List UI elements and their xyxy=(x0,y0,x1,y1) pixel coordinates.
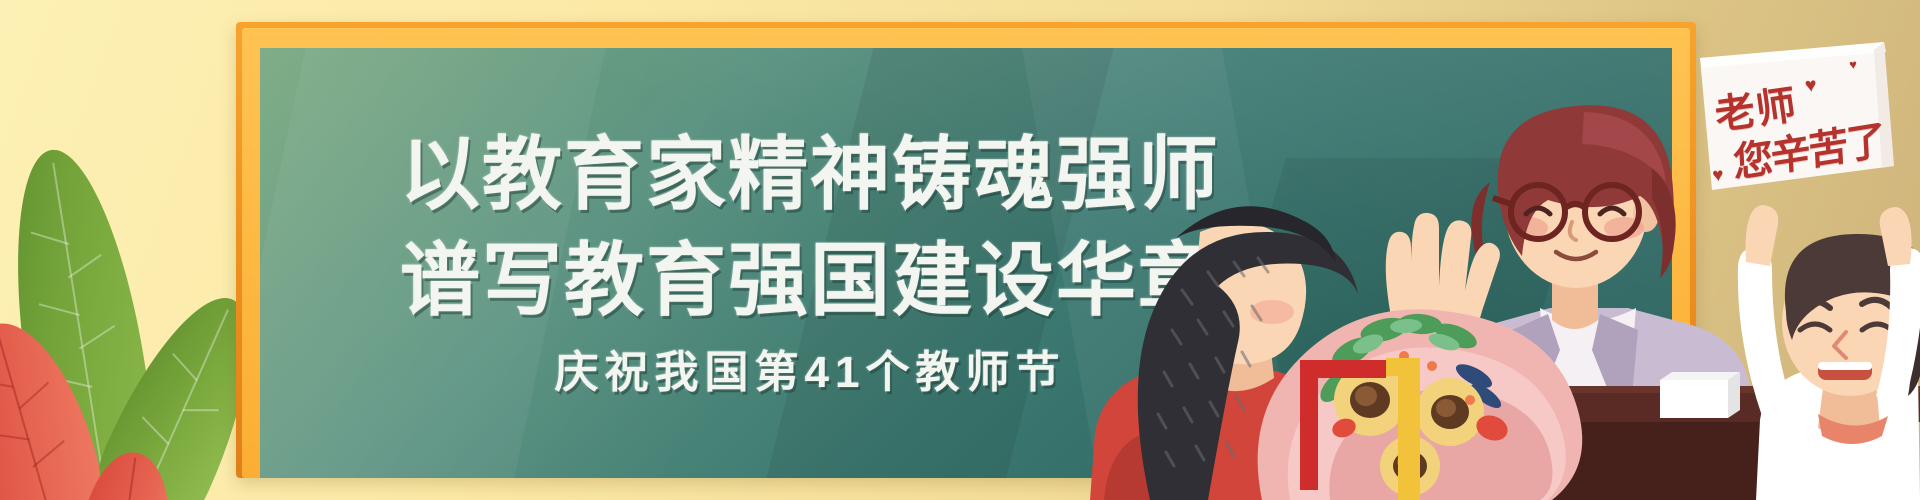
board-subtitle: 庆祝我国第41个教师节 xyxy=(260,336,1360,400)
teachers-day-banner: 以教育家精神铸魂强师 谱写教育强国建设华章 庆祝我国第41个教师节 xyxy=(0,0,1920,500)
blackboard-frame: 以教育家精神铸魂强师 谱写教育强国建设华章 庆祝我国第41个教师节 xyxy=(236,22,1696,478)
board-title-line-2: 谱写教育强国建设华章 xyxy=(260,216,1360,332)
sign-heart-icon: ♥ xyxy=(1711,165,1724,188)
sign-text-block: 老师 您辛苦了 ♥ ♥ ♥ xyxy=(1707,55,1889,190)
blackboard-surface: 以教育家精神铸魂强师 谱写教育强国建设华章 庆祝我国第41个教师节 xyxy=(260,48,1672,478)
sign-heart-icon: ♥ xyxy=(1804,74,1818,98)
student-with-sign-figure xyxy=(1738,205,1920,500)
board-title-line-1: 以教育家精神铸魂强师 xyxy=(260,110,1360,226)
sign-heart-icon: ♥ xyxy=(1849,57,1858,73)
